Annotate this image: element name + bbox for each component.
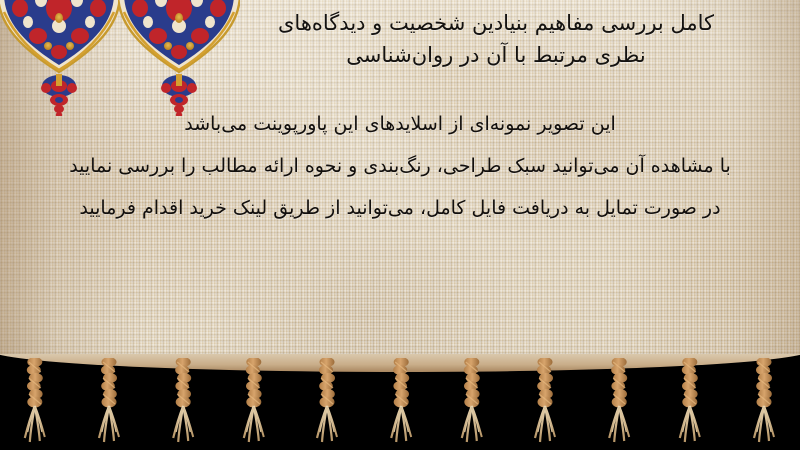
body-line-3: در صورت تمایل به دریافت فایل کامل، می‌تو… [12, 188, 788, 230]
fringe-tassel [165, 358, 199, 446]
slide-title-line-2: نظری مرتبط با آن در روان‌شناسی [216, 40, 776, 72]
fringe-tassel [601, 358, 635, 446]
carpet-fringe-tassels [0, 358, 800, 450]
fringe-tassel [747, 358, 781, 446]
persian-medallion-ornament-left [0, 0, 120, 116]
body-line-1: این تصویر نمونه‌ای از اسلایدهای این پاور… [12, 104, 788, 146]
fringe-tassel [528, 358, 562, 446]
carpet-fringe-band [0, 354, 800, 450]
fringe-tassel [310, 358, 344, 446]
fringe-tassel [19, 358, 53, 446]
fringe-tassel [674, 358, 708, 446]
fringe-tassel [92, 358, 126, 446]
fringe-tassel [456, 358, 490, 446]
body-line-2: با مشاهده آن می‌توانید سبک طراحی، رنگ‌بن… [12, 146, 788, 188]
slide-body: این تصویر نمونه‌ای از اسلایدهای این پاور… [12, 104, 788, 229]
fringe-tassel [383, 358, 417, 446]
fringe-tassel [238, 358, 272, 446]
slide-title-line-1: کامل بررسی مفاهیم بنیادین شخصیت و دیدگاه… [216, 8, 776, 40]
slide-canvas: کامل بررسی مفاهیم بنیادین شخصیت و دیدگاه… [0, 0, 800, 450]
slide-title: کامل بررسی مفاهیم بنیادین شخصیت و دیدگاه… [216, 8, 776, 72]
